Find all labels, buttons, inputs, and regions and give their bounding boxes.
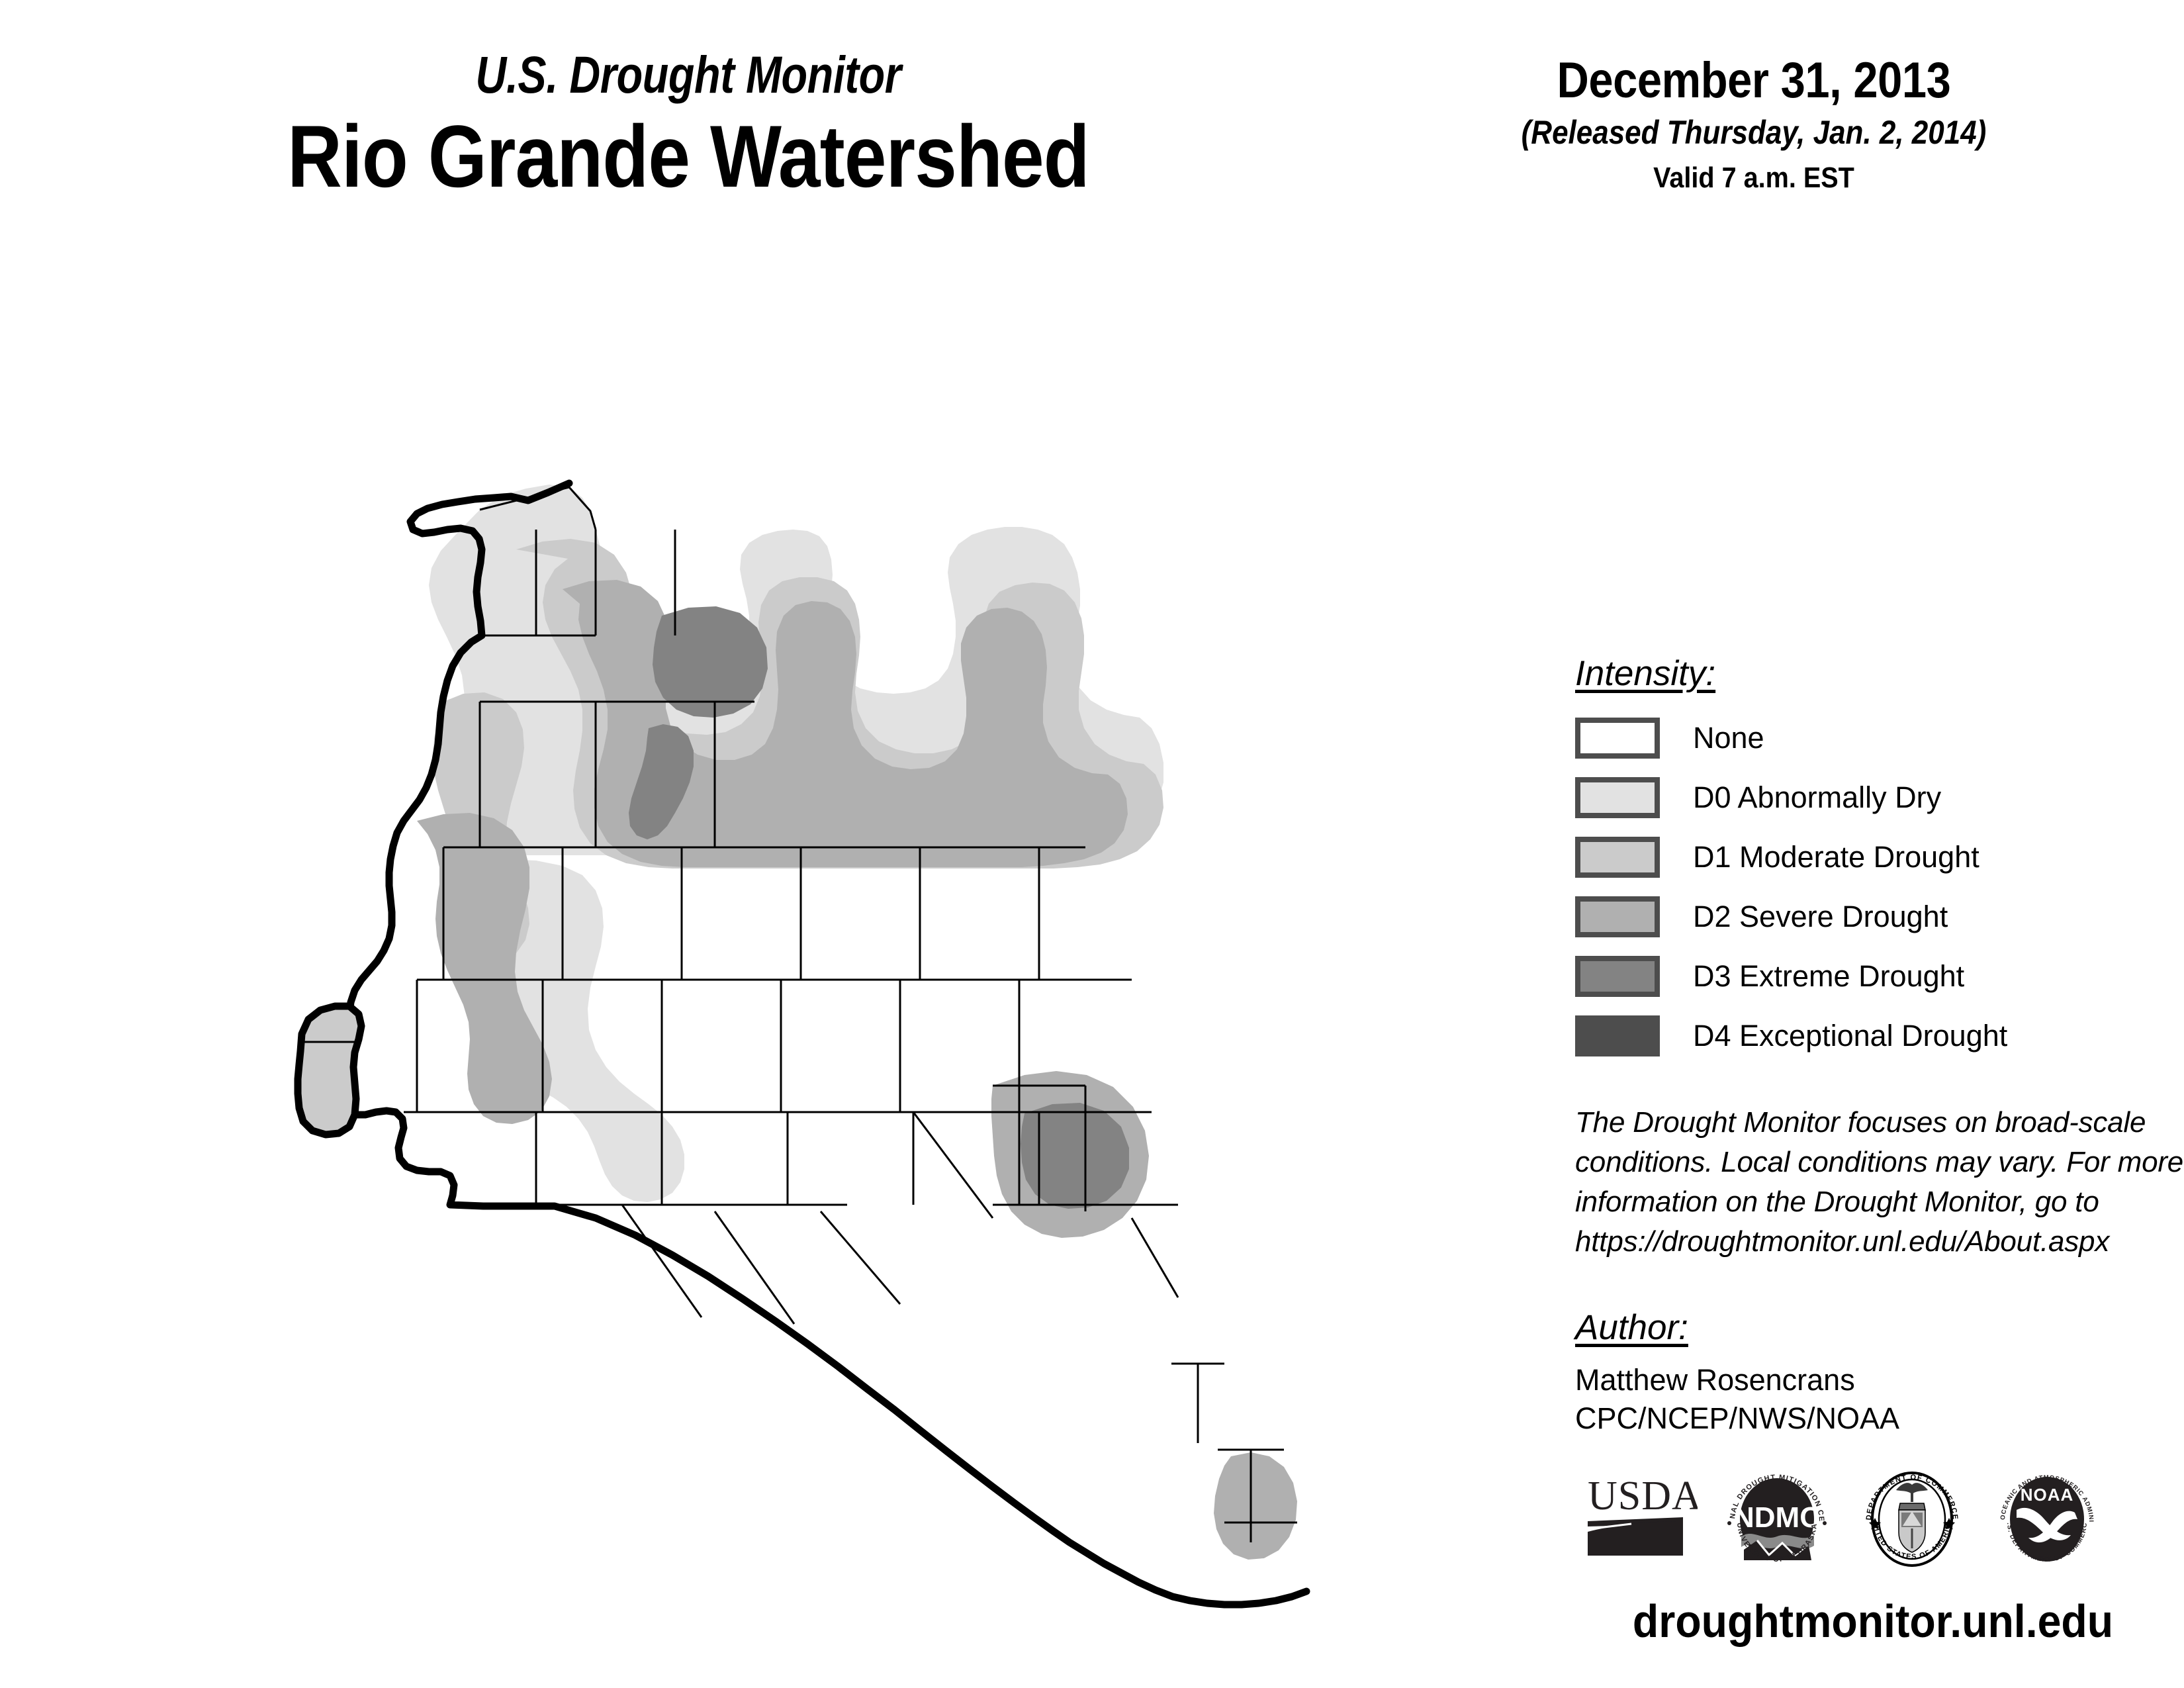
usda-logo: USDA bbox=[1585, 1468, 1698, 1571]
drought-map-svg[interactable] bbox=[251, 331, 1430, 1615]
legend-label-d0: D0 Abnormally Dry bbox=[1693, 781, 1941, 814]
legend-item-d3[interactable]: D3 Extreme Drought bbox=[1575, 947, 2158, 1006]
legend-item-d4[interactable]: D4 Exceptional Drought bbox=[1575, 1006, 2158, 1066]
noaa-logo: NOAA NATIONAL OCEANIC AND ATMOSPHERIC AD… bbox=[1991, 1462, 2103, 1577]
agency-logo-row: USDA NDMC NATIONAL DROUGHT MITIGATION CE… bbox=[1585, 1456, 2167, 1582]
svg-text:USDA: USDA bbox=[1588, 1474, 1698, 1519]
valid-time: Valid 7 a.m. EST bbox=[1474, 160, 2034, 196]
doc-logo: DEPARTMENT OF COMMERCE UNITED STATES OF … bbox=[1856, 1462, 1968, 1577]
legend-label-d3: D3 Extreme Drought bbox=[1693, 960, 1964, 993]
disclaimer-url[interactable]: https://droughtmonitor.unl.edu/About.asp… bbox=[1575, 1222, 2171, 1262]
legend-swatch-none bbox=[1575, 718, 1660, 759]
author-block: Matthew Rosencrans CPC/NCEP/NWS/NOAA bbox=[1575, 1361, 2158, 1438]
svg-text:NOAA: NOAA bbox=[2021, 1485, 2074, 1505]
author-heading: Author: bbox=[1575, 1309, 1688, 1346]
title-group: U.S. Drought Monitor Rio Grande Watershe… bbox=[152, 46, 1224, 207]
legend-swatch-d2 bbox=[1575, 896, 1660, 937]
legend-item-none[interactable]: None bbox=[1575, 708, 2158, 768]
disclaimer-line-2: conditions. Local conditions may vary. F… bbox=[1575, 1143, 2171, 1182]
page-header: U.S. Drought Monitor Rio Grande Watershe… bbox=[0, 0, 2184, 265]
release-date: (Released Thursday, Jan. 2, 2014) bbox=[1480, 113, 2027, 152]
legend-swatch-d4 bbox=[1575, 1015, 1660, 1056]
author-name: Matthew Rosencrans bbox=[1575, 1361, 2158, 1399]
legend-swatch-d0 bbox=[1575, 777, 1660, 818]
legend-label-d2: D2 Severe Drought bbox=[1693, 900, 1948, 933]
drought-map[interactable] bbox=[251, 331, 1430, 1615]
author-affiliation: CPC/NCEP/NWS/NOAA bbox=[1575, 1399, 2158, 1438]
date-group: December 31, 2013 (Released Thursday, Ja… bbox=[1443, 53, 2065, 196]
svg-text:NDMC: NDMC bbox=[1733, 1501, 1821, 1534]
disclaimer-line-3: information on the Drought Monitor, go t… bbox=[1575, 1182, 2171, 1222]
drought-monitor-supertitle: U.S. Drought Monitor bbox=[249, 46, 1128, 103]
disclaimer-text: The Drought Monitor focuses on broad-sca… bbox=[1575, 1103, 2171, 1262]
legend-item-d0[interactable]: D0 Abnormally Dry bbox=[1575, 768, 2158, 827]
legend-heading: Intensity: bbox=[1575, 655, 1715, 692]
ndmc-logo: NDMC NATIONAL DROUGHT MITIGATION CENTER … bbox=[1721, 1462, 1833, 1577]
disclaimer-line-1: The Drought Monitor focuses on broad-sca… bbox=[1575, 1103, 2171, 1143]
legend-list: None D0 Abnormally Dry D1 Moderate Droug… bbox=[1575, 708, 2158, 1066]
legend-label-none: None bbox=[1693, 722, 1764, 755]
page-title: Rio Grande Watershed bbox=[227, 107, 1149, 207]
site-url[interactable]: droughtmonitor.unl.edu bbox=[1599, 1595, 2147, 1647]
western-lobe bbox=[298, 1006, 361, 1135]
legend-and-info-panel: Intensity: None D0 Abnormally Dry D1 Mod… bbox=[1575, 655, 2158, 1438]
legend-swatch-d3 bbox=[1575, 956, 1660, 997]
legend-item-d2[interactable]: D2 Severe Drought bbox=[1575, 887, 2158, 947]
legend-label-d4: D4 Exceptional Drought bbox=[1693, 1019, 2007, 1053]
legend-label-d1: D1 Moderate Drought bbox=[1693, 841, 1979, 874]
valid-date: December 31, 2013 bbox=[1480, 53, 2027, 109]
legend-swatch-d1 bbox=[1575, 837, 1660, 878]
map-background bbox=[251, 331, 1430, 1615]
legend-item-d1[interactable]: D1 Moderate Drought bbox=[1575, 827, 2158, 887]
